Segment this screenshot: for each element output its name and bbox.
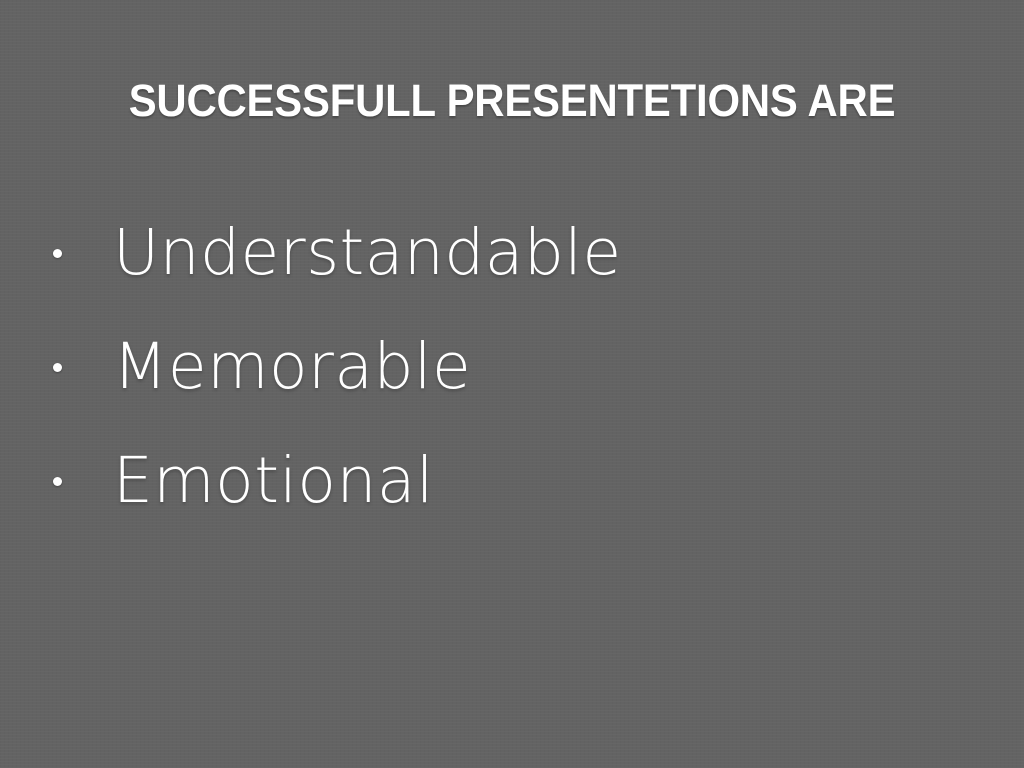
presentation-slide: SUCCESSFULL PRESENTETIONS ARE Understand… <box>0 0 1024 768</box>
bullet-item-label: Emotional <box>113 445 434 517</box>
bullet-dot-icon <box>53 249 62 258</box>
bullet-item-label: Memorable <box>113 331 471 403</box>
bullet-list: Understandable Memorable Emotional <box>0 196 1024 538</box>
bullet-item-label: Understandable <box>113 217 622 289</box>
page-title: SUCCESSFULL PRESENTETIONS ARE <box>36 76 988 126</box>
bullet-dot-icon <box>53 363 62 372</box>
list-item: Understandable <box>0 196 1024 310</box>
list-item: Memorable <box>0 310 1024 424</box>
list-item: Emotional <box>0 424 1024 538</box>
bullet-dot-icon <box>53 477 62 486</box>
